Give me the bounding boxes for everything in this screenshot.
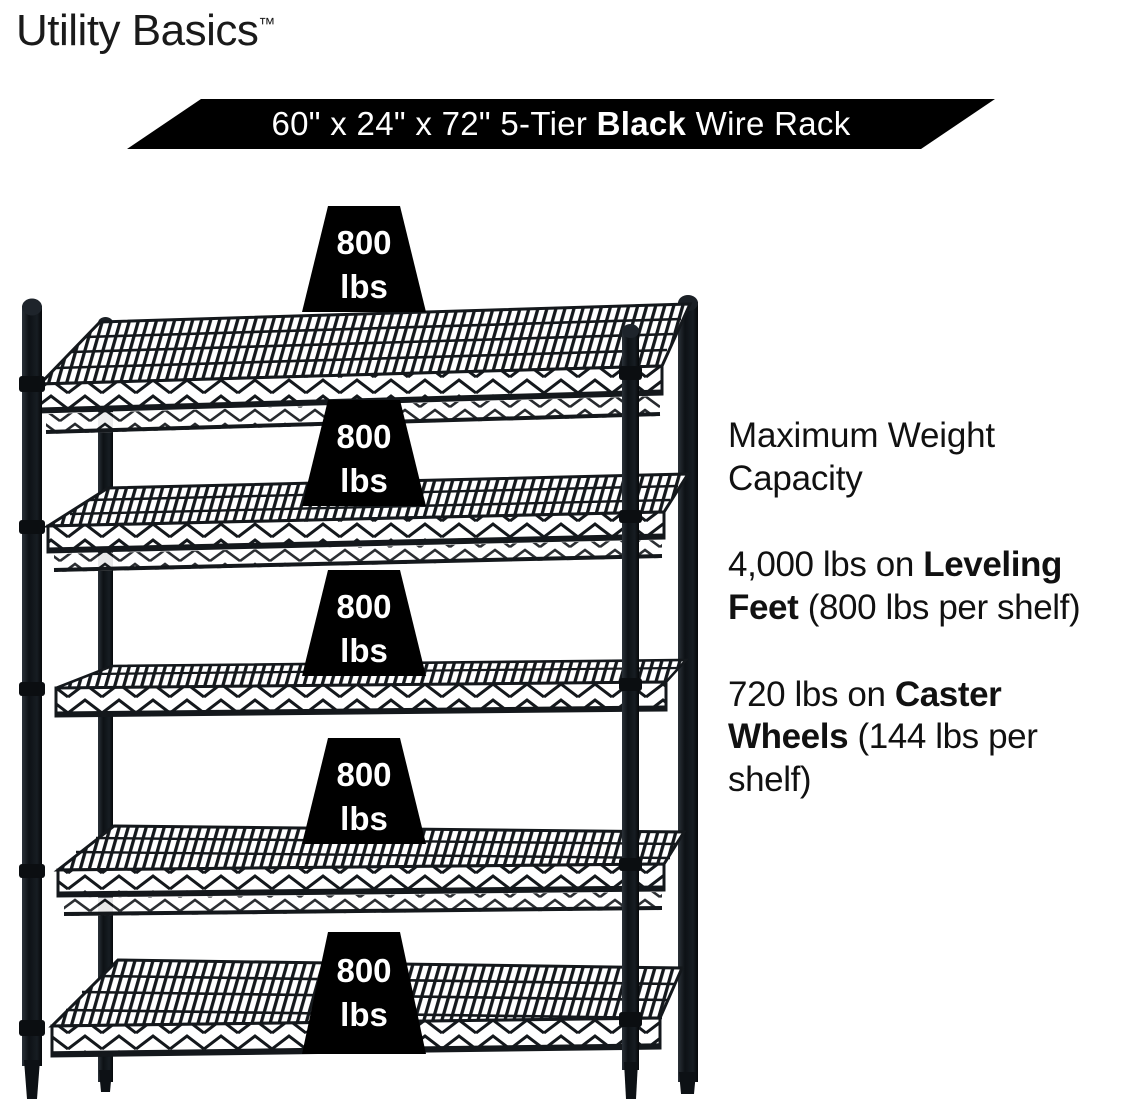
spec-caster-wheels: 720 lbs on Caster Wheels (144 lbs per sh… xyxy=(728,674,1113,802)
product-infographic: Utility Basics™ 60" x 24" x 72" 5-Tier B… xyxy=(0,0,1126,1099)
specs-heading: Maximum Weight Capacity xyxy=(728,415,1113,500)
weight-capacity-specs: Maximum Weight Capacity 4,000 lbs on Lev… xyxy=(728,415,1113,846)
badge-value: 800 xyxy=(336,952,391,989)
product-title-banner: 60" x 24" x 72" 5-Tier Black Wire Rack xyxy=(127,99,995,149)
leveling-foot xyxy=(624,1062,638,1099)
weight-badge-shelf-2: 800 lbs xyxy=(302,400,426,506)
caster-total: 720 lbs on xyxy=(728,675,895,714)
weight-badge-shelf-3: 800 lbs xyxy=(302,570,426,676)
weight-badge-shelf-1: 800 lbs xyxy=(302,206,426,312)
badge-unit: lbs xyxy=(340,632,388,669)
badge-value: 800 xyxy=(336,756,391,793)
title-highlight: Black xyxy=(597,105,687,142)
badge-value: 800 xyxy=(336,418,391,455)
title-prefix: 60" x 24" x 72" 5-Tier xyxy=(271,105,596,142)
weight-badge-shelf-4: 800 lbs xyxy=(302,738,426,844)
badge-unit: lbs xyxy=(340,996,388,1033)
leveling-foot xyxy=(24,1060,40,1099)
badge-unit: lbs xyxy=(340,800,388,837)
badge-unit: lbs xyxy=(340,462,388,499)
weight-badge-shelf-5: 800 lbs xyxy=(302,932,426,1054)
product-title: 60" x 24" x 72" 5-Tier Black Wire Rack xyxy=(271,107,850,140)
badge-value: 800 xyxy=(336,588,391,625)
badge-unit: lbs xyxy=(340,268,388,305)
brand-name: Utility Basics xyxy=(16,6,258,55)
brand-logo: Utility Basics™ xyxy=(16,6,275,56)
trademark-symbol: ™ xyxy=(258,14,275,33)
title-suffix: Wire Rack xyxy=(686,105,850,142)
leveling-total: 4,000 lbs on xyxy=(728,545,923,584)
badge-value: 800 xyxy=(336,224,391,261)
spec-leveling-feet: 4,000 lbs on Leveling Feet (800 lbs per … xyxy=(728,544,1113,629)
leveling-per-shelf: (800 lbs per shelf) xyxy=(798,588,1080,627)
